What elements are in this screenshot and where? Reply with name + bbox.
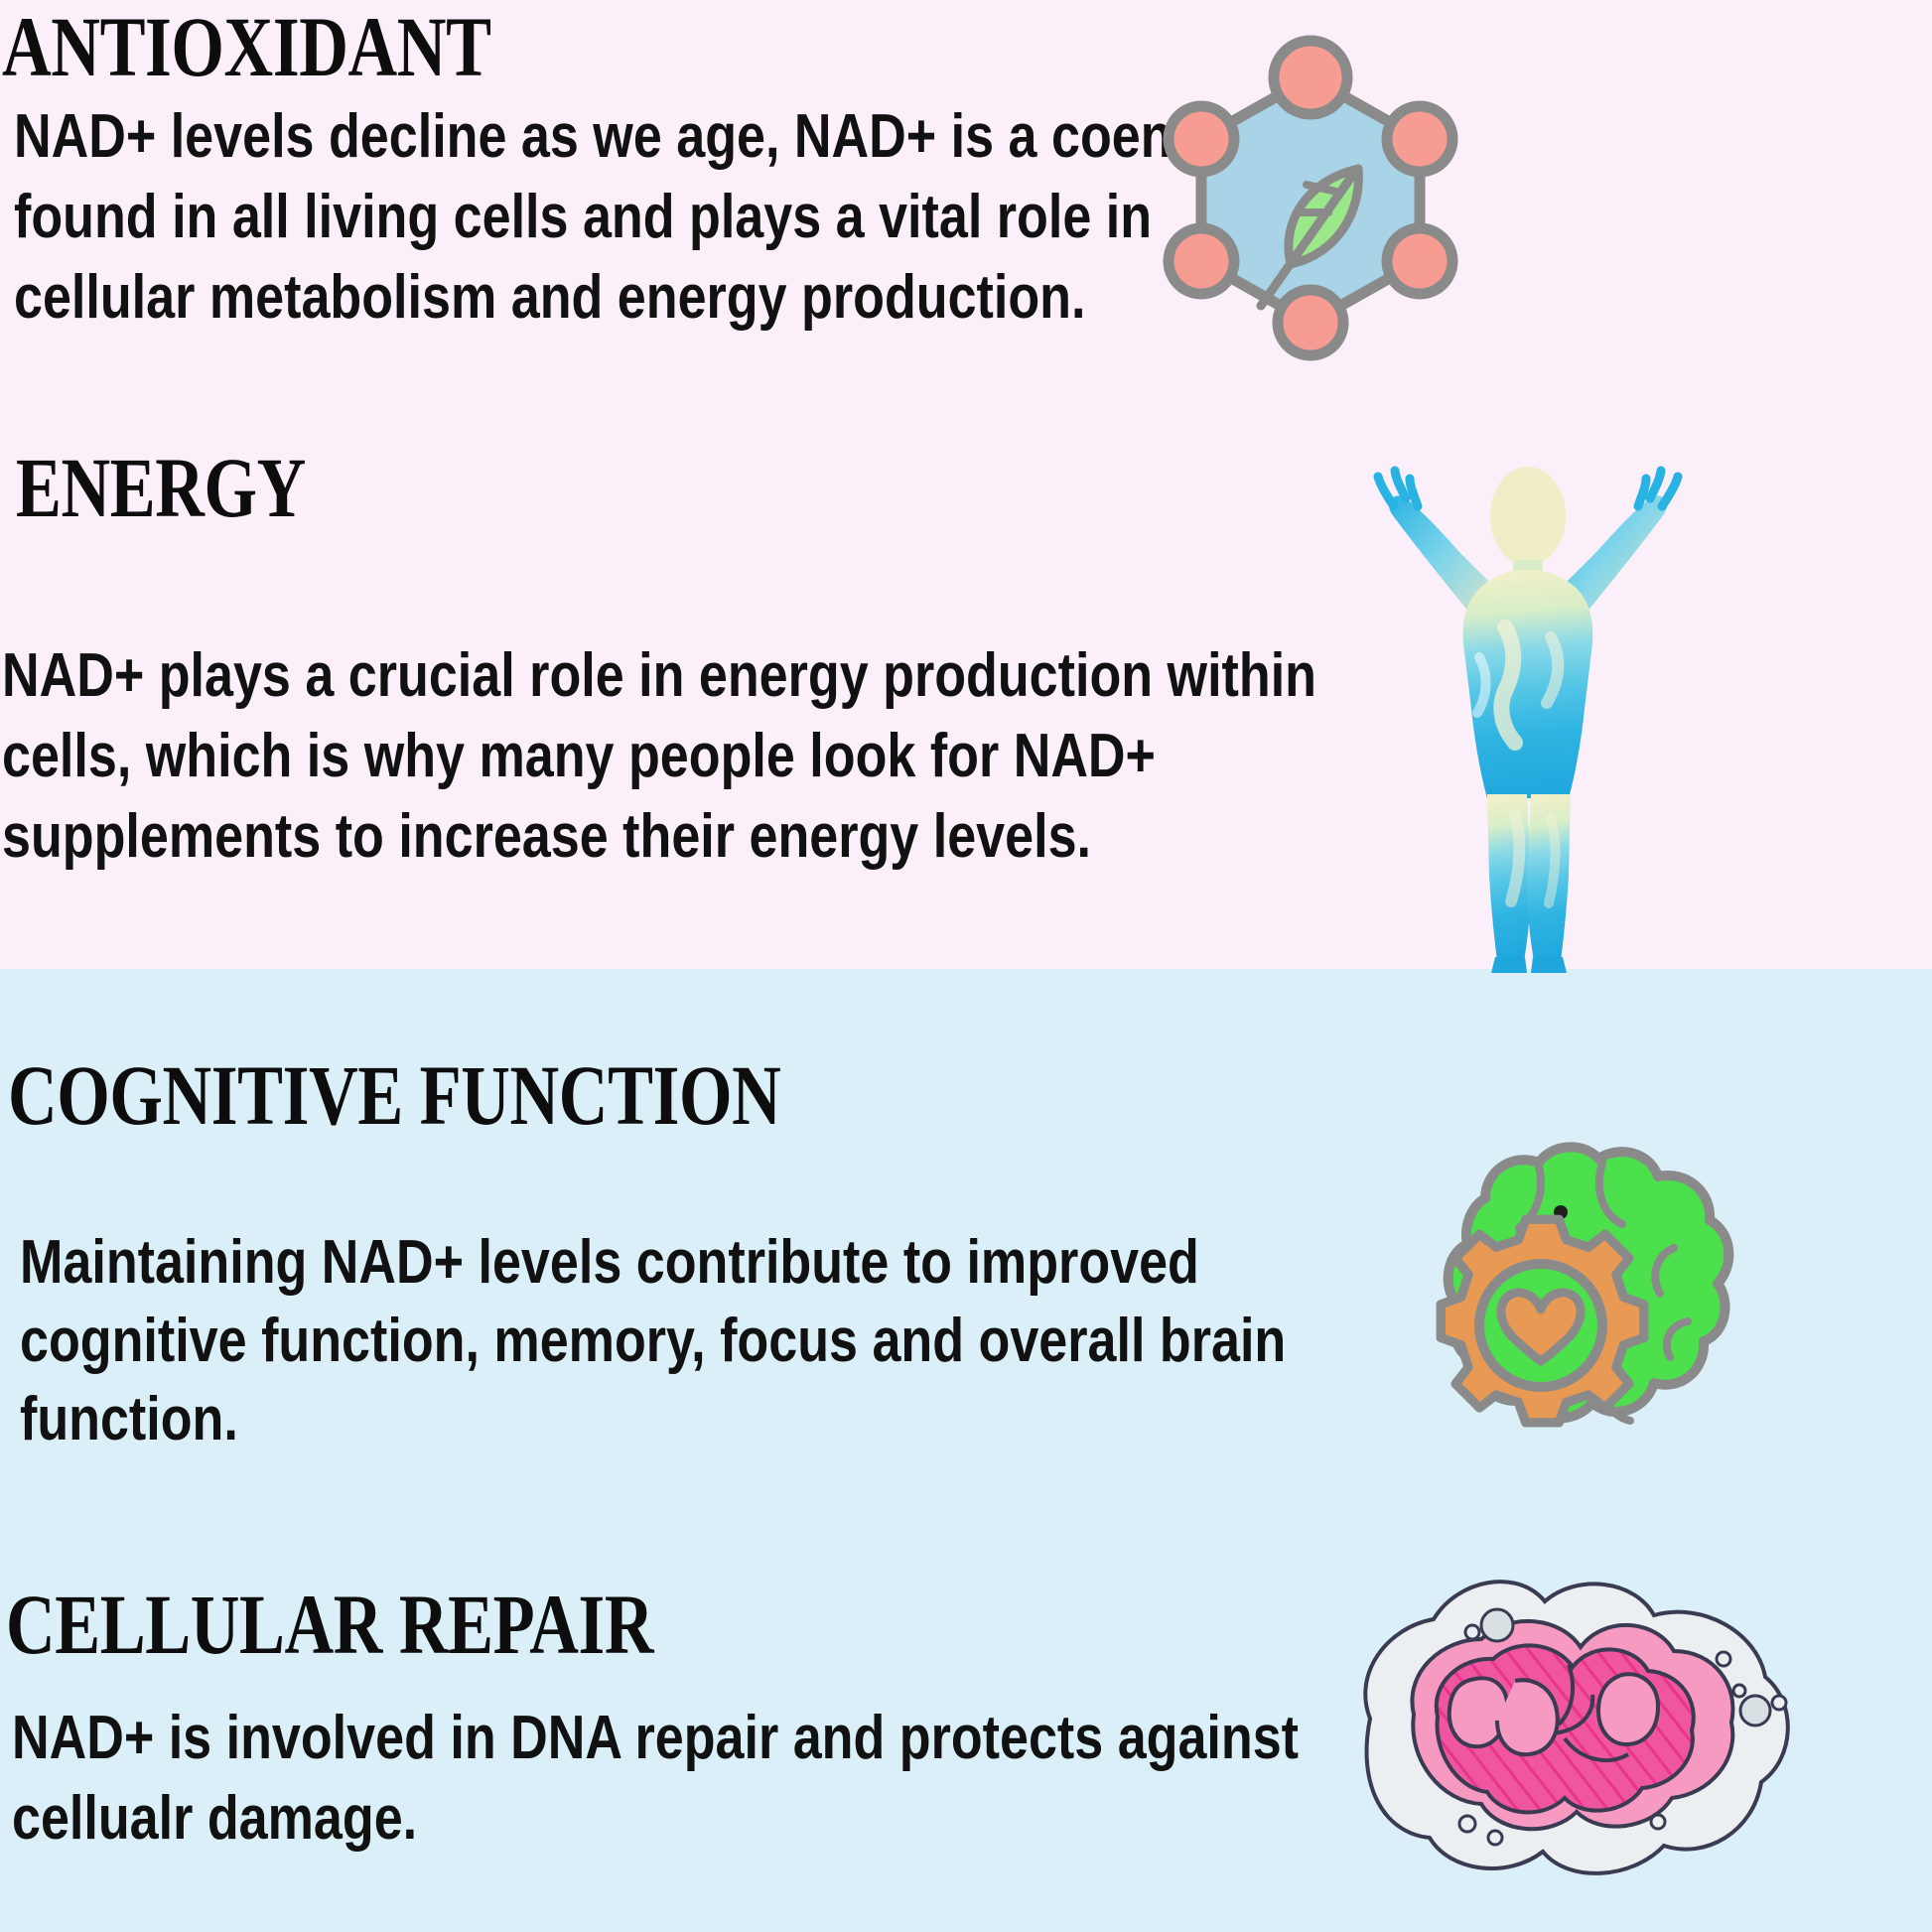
- body-line-text: found in all living cells and plays a vi…: [14, 183, 1152, 251]
- heading-antioxidant: ANTIOXIDANT: [2, 4, 491, 89]
- mitochondria-icon: [1330, 1544, 1817, 1896]
- brain-gear-heart-icon: [1390, 1137, 1787, 1464]
- body-line: cellular metabolism and energy productio…: [14, 257, 1932, 338]
- body-line-text: NAD+ is involved in DNA repair and prote…: [12, 1704, 1299, 1772]
- body-line-text: Maintaining NAD+ levels contribute to im…: [20, 1228, 1199, 1297]
- infographic-canvas: ANTIOXIDANT NAD+ levels decline as we ag…: [0, 0, 1932, 1932]
- body-line: NAD+ levels decline as we age, NAD+ is a…: [14, 96, 1932, 177]
- human-figure-icon: [1320, 449, 1737, 980]
- heading-energy: ENERGY: [16, 445, 306, 530]
- body-antioxidant: NAD+ levels decline as we age, NAD+ is a…: [14, 96, 1932, 338]
- body-line: found in all living cells and plays a vi…: [14, 177, 1932, 257]
- body-line-text: NAD+ levels decline as we age, NAD+ is a…: [14, 102, 1302, 171]
- body-line-text: cells, which is why many people look for…: [2, 722, 1156, 790]
- body-line-text: cognitive function, memory, focus and ov…: [20, 1307, 1286, 1375]
- body-line-text: NAD+ plays a crucial role in energy prod…: [2, 641, 1316, 710]
- molecule-leaf-icon: [1132, 18, 1489, 375]
- heading-cognitive-function: COGNITIVE FUNCTION: [8, 1052, 780, 1138]
- heading-cellular-repair: CELLULAR REPAIR: [6, 1582, 653, 1667]
